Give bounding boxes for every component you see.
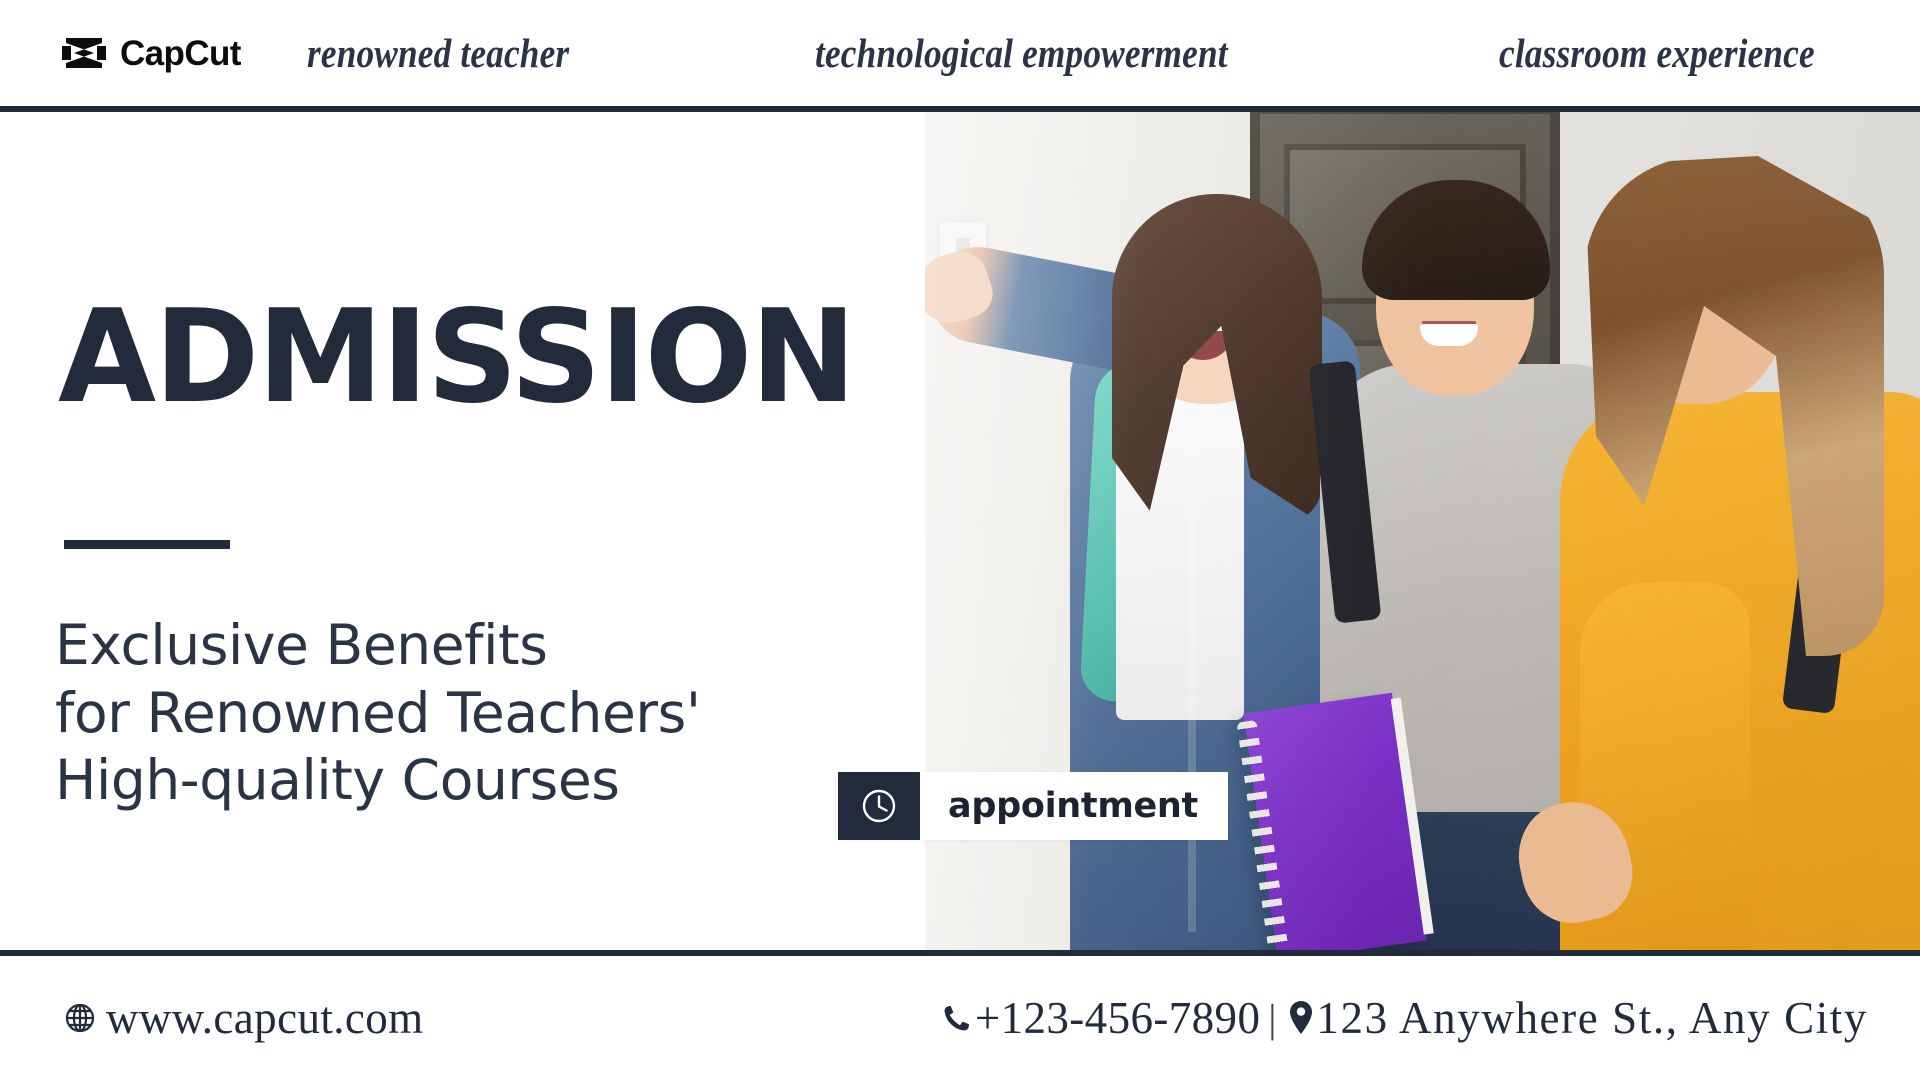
photo-person-two-mouth	[1420, 324, 1478, 346]
footer-separator: |	[1268, 995, 1276, 1042]
title-underline-rule	[64, 540, 230, 549]
poster-canvas: CapCut renowned teacher technological em…	[0, 0, 1920, 1080]
tagline-2: technological empowerment	[815, 29, 1228, 77]
subheadline: Exclusive Benefits for Renowned Teachers…	[55, 612, 701, 815]
photo-person-one-seam	[1188, 412, 1196, 932]
phone-number: +123-456-7890	[975, 992, 1261, 1044]
appointment-label: appointment	[920, 772, 1228, 840]
footer-contact: +123-456-7890 | 123 Anywhere St., Any Ci…	[939, 992, 1868, 1044]
globe-icon	[60, 998, 100, 1038]
brand-logo[interactable]: CapCut	[62, 36, 241, 71]
main-stage: ADMISSION Exclusive Benefits for Renowne…	[0, 112, 1920, 950]
capcut-logo-icon	[62, 36, 106, 70]
page-title: ADMISSION	[58, 294, 854, 422]
footer-bar: www.capcut.com +123-456-7890 | 123 Anywh…	[0, 950, 1920, 1080]
address-text: 123 Anywhere St., Any City	[1316, 992, 1868, 1044]
location-pin-icon	[1286, 998, 1316, 1038]
photo-notebook	[1243, 693, 1426, 950]
footer-website[interactable]: www.capcut.com	[60, 992, 424, 1044]
brand-name: CapCut	[120, 36, 241, 71]
tagline-1: renowned teacher	[307, 29, 569, 77]
header-taglines: renowned teacher technological empowerme…	[241, 29, 1874, 77]
clock-icon	[838, 772, 920, 840]
appointment-badge[interactable]: appointment	[838, 772, 1228, 840]
left-content-panel	[0, 112, 925, 950]
header-bar: CapCut renowned teacher technological em…	[0, 0, 1920, 112]
website-url: www.capcut.com	[106, 992, 424, 1044]
phone-icon	[939, 1000, 975, 1036]
tagline-3: classroom experience	[1499, 29, 1815, 77]
